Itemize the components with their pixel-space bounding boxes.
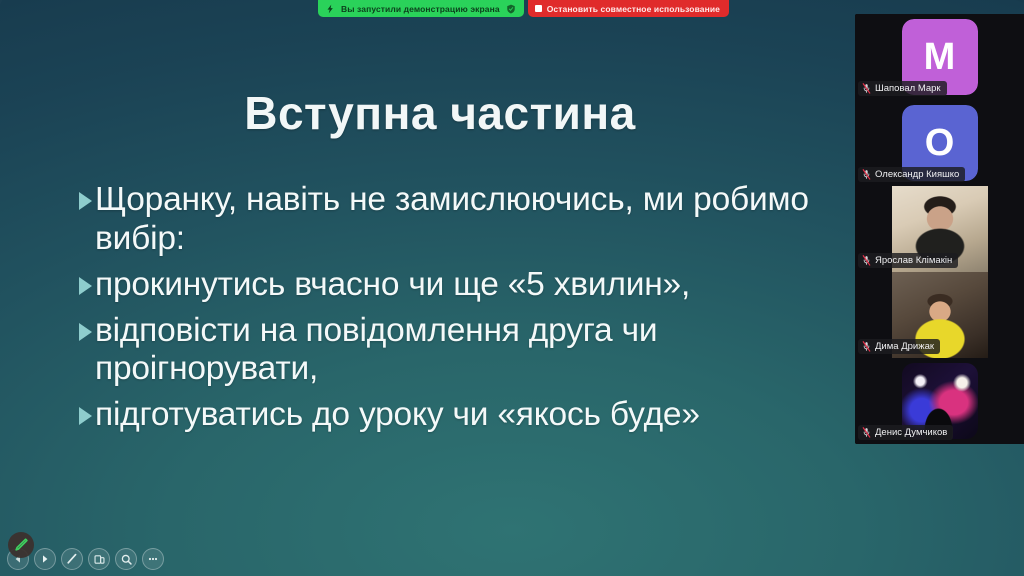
triangle-bullet-icon <box>79 323 92 341</box>
ellipsis-icon <box>146 552 160 566</box>
annotation-active-indicator[interactable] <box>8 532 34 558</box>
triangle-right-icon <box>39 553 51 565</box>
pen-icon <box>65 552 79 566</box>
participant-name: Ярослав Клімакін <box>875 255 952 266</box>
magnifier-icon <box>120 553 133 566</box>
slides-view-button[interactable] <box>88 548 110 570</box>
participant-name: Денис Думчиков <box>875 427 947 438</box>
mic-muted-icon <box>862 169 871 180</box>
bullet-text: Щоранку, навіть не замислюючись, ми роби… <box>95 181 865 259</box>
zoom-tool-button[interactable] <box>115 548 137 570</box>
next-slide-button[interactable] <box>34 548 56 570</box>
triangle-bullet-icon <box>79 277 92 295</box>
participant-name: Шаповал Марк <box>875 83 941 94</box>
participant-name: Олександр Кияшко <box>875 169 959 180</box>
screen-share-status: Вы запустили демонстрацию экрана <box>318 0 524 17</box>
bullet-text: відповісти на повідомлення друга чи проі… <box>95 312 865 390</box>
bullet-text: прокинутись вчасно чи ще «5 хвилин», <box>95 266 690 305</box>
participant-tile[interactable]: Ярослав Клімакін <box>855 186 1024 272</box>
participant-name-plate: Дима Дрижак <box>858 339 940 354</box>
list-item: Щоранку, навіть не замислюючись, ми роби… <box>79 181 879 259</box>
stop-share-button[interactable]: Остановить совместное использование <box>528 0 729 17</box>
mic-muted-icon <box>862 341 871 352</box>
participant-tile[interactable]: Дима Дрижак <box>855 272 1024 358</box>
slides-grid-icon <box>93 553 106 566</box>
mic-muted-icon <box>862 83 871 94</box>
participant-tile[interactable]: M Шаповал Марк <box>855 14 1024 100</box>
participant-name-plate: Денис Думчиков <box>858 425 953 440</box>
participant-tile[interactable]: O Олександр Кияшко <box>855 100 1024 186</box>
screen-share-toolbar: Вы запустили демонстрацию экрана Останов… <box>318 0 729 17</box>
screen-share-status-label: Вы запустили демонстрацию экрана <box>341 4 500 14</box>
participant-name-plate: Ярослав Клімакін <box>858 253 958 268</box>
list-item: відповісти на повідомлення друга чи проі… <box>79 312 879 390</box>
participant-tile[interactable]: Денис Думчиков <box>855 358 1024 444</box>
participant-name: Дима Дрижак <box>875 341 934 352</box>
shield-icon[interactable] <box>506 4 516 14</box>
share-screen-icon <box>325 4 335 14</box>
slide-title: Вступна частина <box>0 86 880 140</box>
participant-filmstrip[interactable]: M Шаповал Марк O <box>855 14 1024 444</box>
slide-bullet-list: Щоранку, навіть не замислюючись, ми роби… <box>79 181 879 442</box>
participant-name-plate: Шаповал Марк <box>858 81 947 96</box>
mic-muted-icon <box>862 255 871 266</box>
stop-square-icon <box>535 5 542 12</box>
pen-tool-button[interactable] <box>61 548 83 570</box>
screen-share-view: Вы запустили демонстрацию экрана Останов… <box>0 0 1024 576</box>
pen-icon <box>13 537 29 553</box>
more-options-button[interactable] <box>142 548 164 570</box>
triangle-bullet-icon <box>79 192 92 210</box>
mic-muted-icon <box>862 427 871 438</box>
list-item: прокинутись вчасно чи ще «5 хвилин», <box>79 266 879 305</box>
list-item: підготуватись до уроку чи «якось буде» <box>79 396 879 435</box>
bullet-text: підготуватись до уроку чи «якось буде» <box>95 396 700 435</box>
triangle-bullet-icon <box>79 407 92 425</box>
participant-name-plate: Олександр Кияшко <box>858 167 965 182</box>
stop-share-label: Остановить совместное использование <box>547 4 720 14</box>
